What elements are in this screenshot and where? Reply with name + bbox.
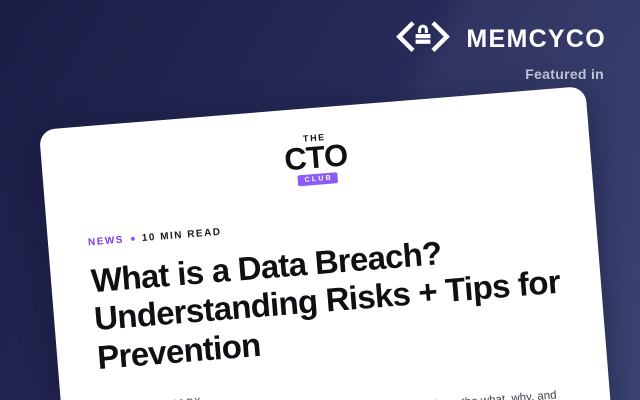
memcyco-wordmark: MEMCYCO <box>466 27 606 52</box>
article-card[interactable]: THE CTO CLUB NEWS 10 MIN READ What is a … <box>39 86 612 400</box>
featured-in-label: Featured in <box>394 67 606 81</box>
memcyco-bracket-lock-icon <box>394 18 452 60</box>
dot-separator-icon <box>131 237 135 241</box>
article-card-wrapper: THE CTO CLUB NEWS 10 MIN READ What is a … <box>39 86 612 400</box>
article-read-time: 10 MIN READ <box>141 226 221 243</box>
article-category[interactable]: NEWS <box>88 234 125 248</box>
article-headline: What is a Data Breach? Understanding Ris… <box>90 224 566 378</box>
memcyco-brand-row: MEMCYCO <box>394 18 606 60</box>
cto-club-logo[interactable]: THE CTO CLUB <box>81 115 552 203</box>
memcyco-brand: MEMCYCO Featured in <box>394 18 606 81</box>
screenshot-root: MEMCYCO Featured in THE CTO CLUB NEWS 10… <box>0 0 640 400</box>
cto-logo-wordmark: CTO <box>283 141 348 175</box>
